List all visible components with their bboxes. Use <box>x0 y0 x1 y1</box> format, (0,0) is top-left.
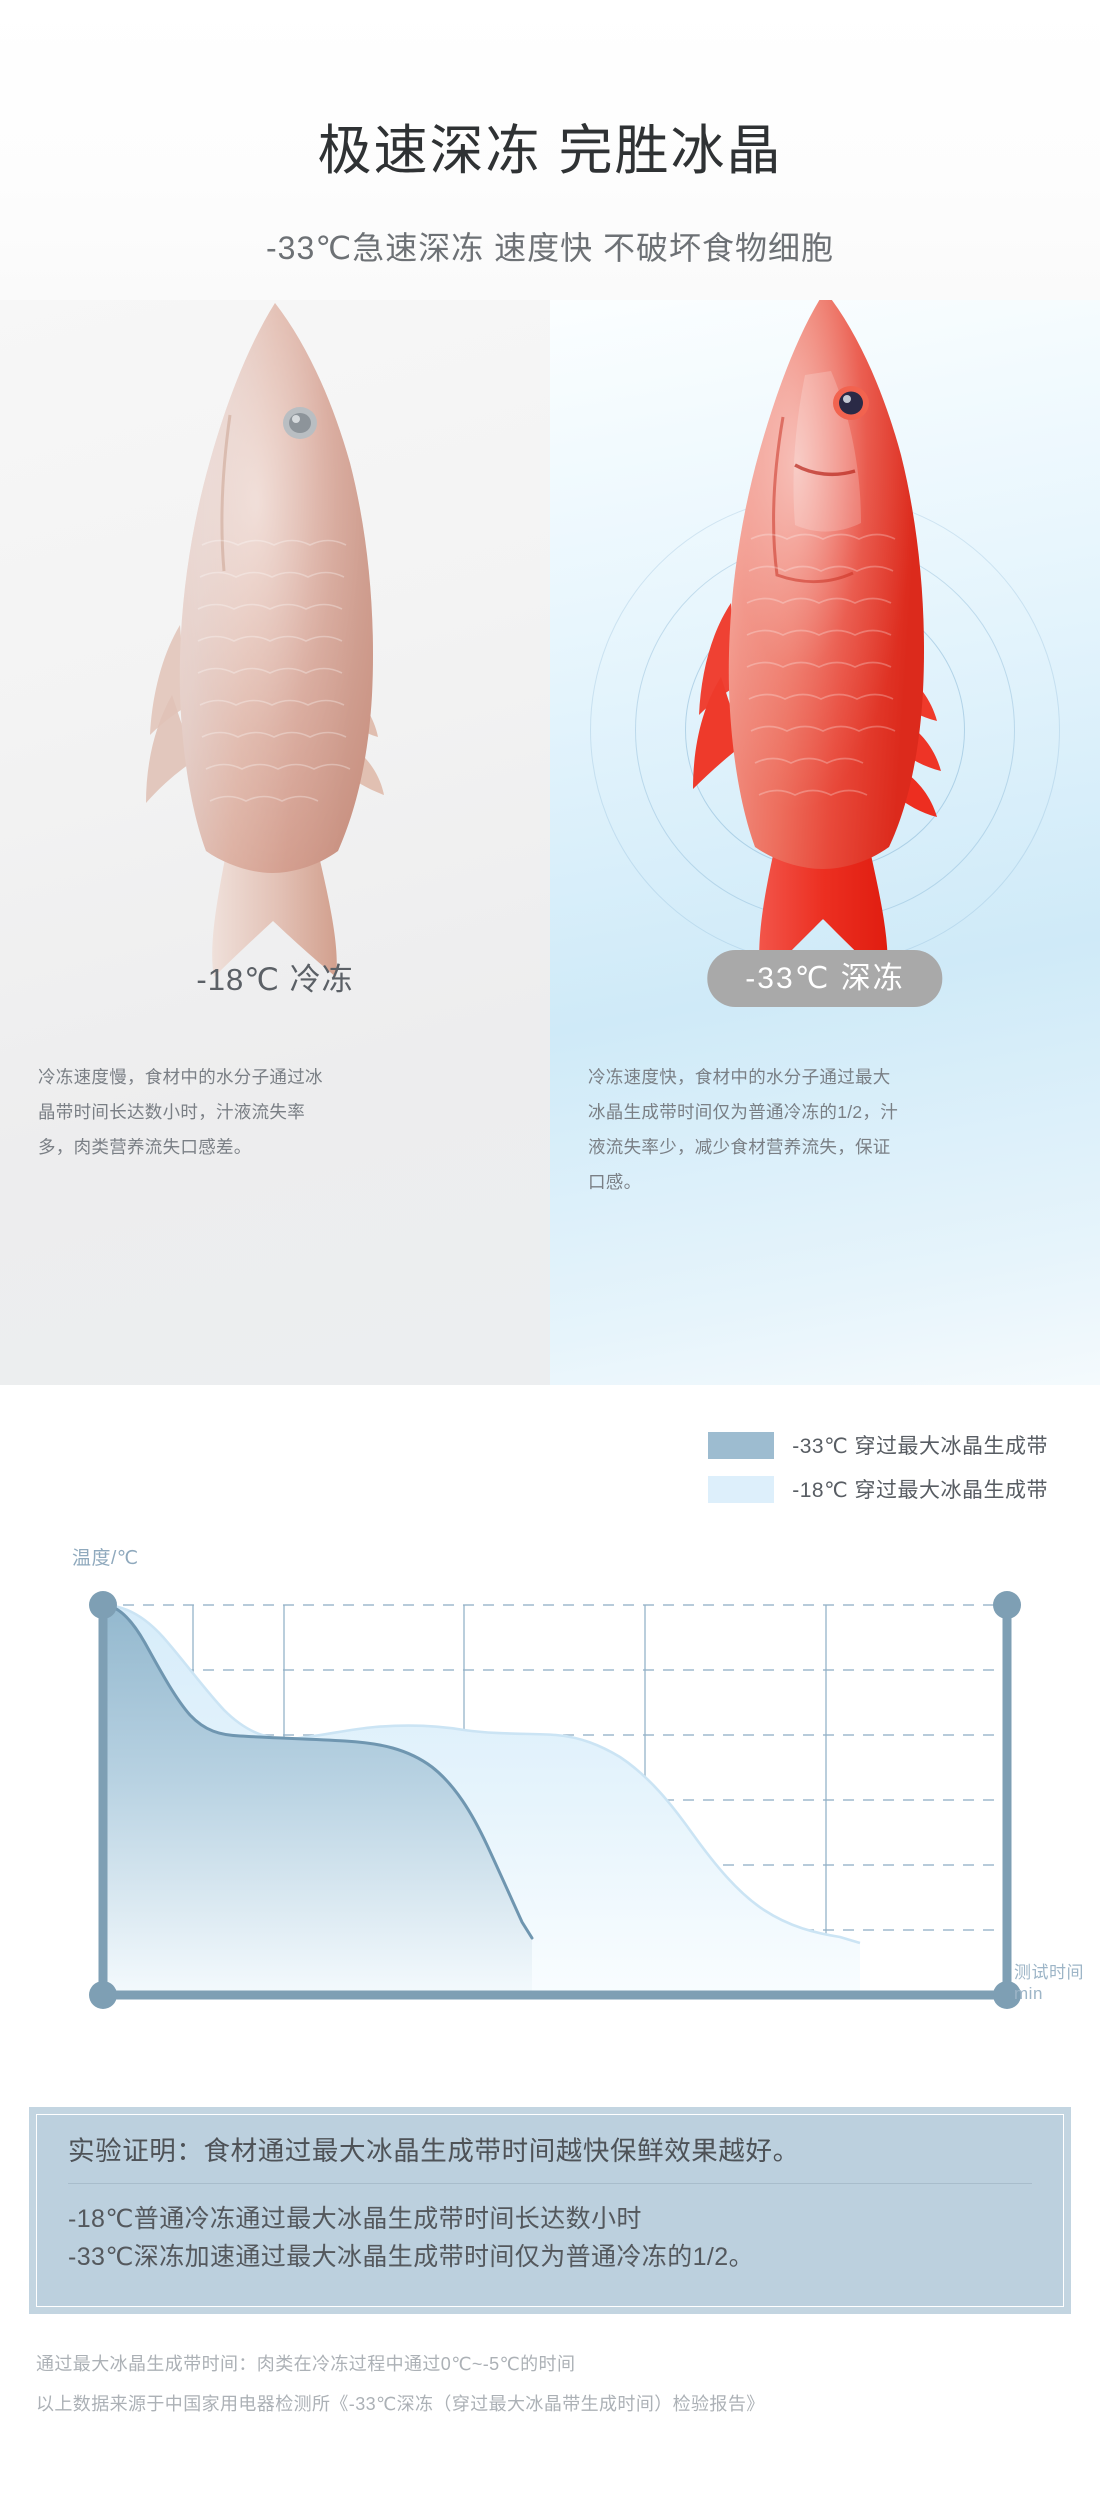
deep-freeze-badge: -33℃ 深冻 <box>707 950 942 1007</box>
chart-x-axis-label: 测试时间 min <box>1014 1962 1084 2005</box>
chart-x-axis-title: 测试时间 <box>1014 1962 1084 1983</box>
conclusion-line-2: -33℃深冻加速通过最大冰晶生成带时间仅为普通冷冻的1/2。 <box>68 2238 1032 2276</box>
footnote-1: 通过最大冰晶生成带时间：肉类在冷冻过程中通过0℃~-5℃的时间 <box>36 2355 575 2373</box>
page-title: 极速深冻 完胜冰晶 <box>0 124 1100 178</box>
chart-section: -33℃ 穿过最大冰晶生成带 -18℃ 穿过最大冰晶生成带 温度/℃ <box>0 1385 1100 2125</box>
freeze-curve-chart <box>0 1385 1100 2125</box>
left-description: 冷冻速度慢，食材中的水分子通过冰晶带时间长达数小时，汁液流失率多，肉类营养流失口… <box>38 1060 338 1165</box>
conclusion-box: 实验证明：食材通过最大冰晶生成带时间越快保鲜效果越好。 -18℃普通冷冻通过最大… <box>29 2107 1071 2314</box>
page-subtitle: -33℃急速深冻 速度快 不破坏食物细胞 <box>0 232 1100 264</box>
right-description: 冷冻速度快，食材中的水分子通过最大冰晶生成带时间仅为普通冷冻的1/2，汁液流失率… <box>588 1060 908 1200</box>
conclusion-divider <box>68 2183 1032 2184</box>
product-detail-page: 极速深冻 完胜冰晶 -33℃急速深冻 速度快 不破坏食物细胞 <box>0 0 1100 2496</box>
comparison-pane-minus18: -18℃ 冷冻 冷冻速度慢，食材中的水分子通过冰晶带时间长达数小时，汁液流失率多… <box>0 300 550 1385</box>
fresh-fish-image <box>550 300 1100 1000</box>
conclusion-inner: 实验证明：食材通过最大冰晶生成带时间越快保鲜效果越好。 -18℃普通冷冻通过最大… <box>36 2114 1064 2307</box>
frost-fish-image <box>0 300 550 1000</box>
conclusion-headline: 实验证明：食材通过最大冰晶生成带时间越快保鲜效果越好。 <box>68 2138 1032 2183</box>
conclusion-line-1: -18℃普通冷冻通过最大冰晶生成带时间长达数小时 <box>68 2200 1032 2238</box>
header-section: 极速深冻 完胜冰晶 -33℃急速深冻 速度快 不破坏食物细胞 <box>0 0 1100 300</box>
left-caption: -18℃ 冷冻 <box>0 964 550 995</box>
comparison-pane-minus33: -33℃ 深冻 冷冻速度快，食材中的水分子通过最大冰晶生成带时间仅为普通冷冻的1… <box>550 300 1100 1385</box>
comparison-section: -18℃ 冷冻 冷冻速度慢，食材中的水分子通过冰晶带时间长达数小时，汁液流失率多… <box>0 300 1100 1385</box>
chart-x-axis-unit: min <box>1014 1983 1084 2004</box>
footnote-2: 以上数据来源于中国家用电器检测所《-33℃深冻（穿过最大冰晶带生成时间）检验报告… <box>36 2395 765 2413</box>
